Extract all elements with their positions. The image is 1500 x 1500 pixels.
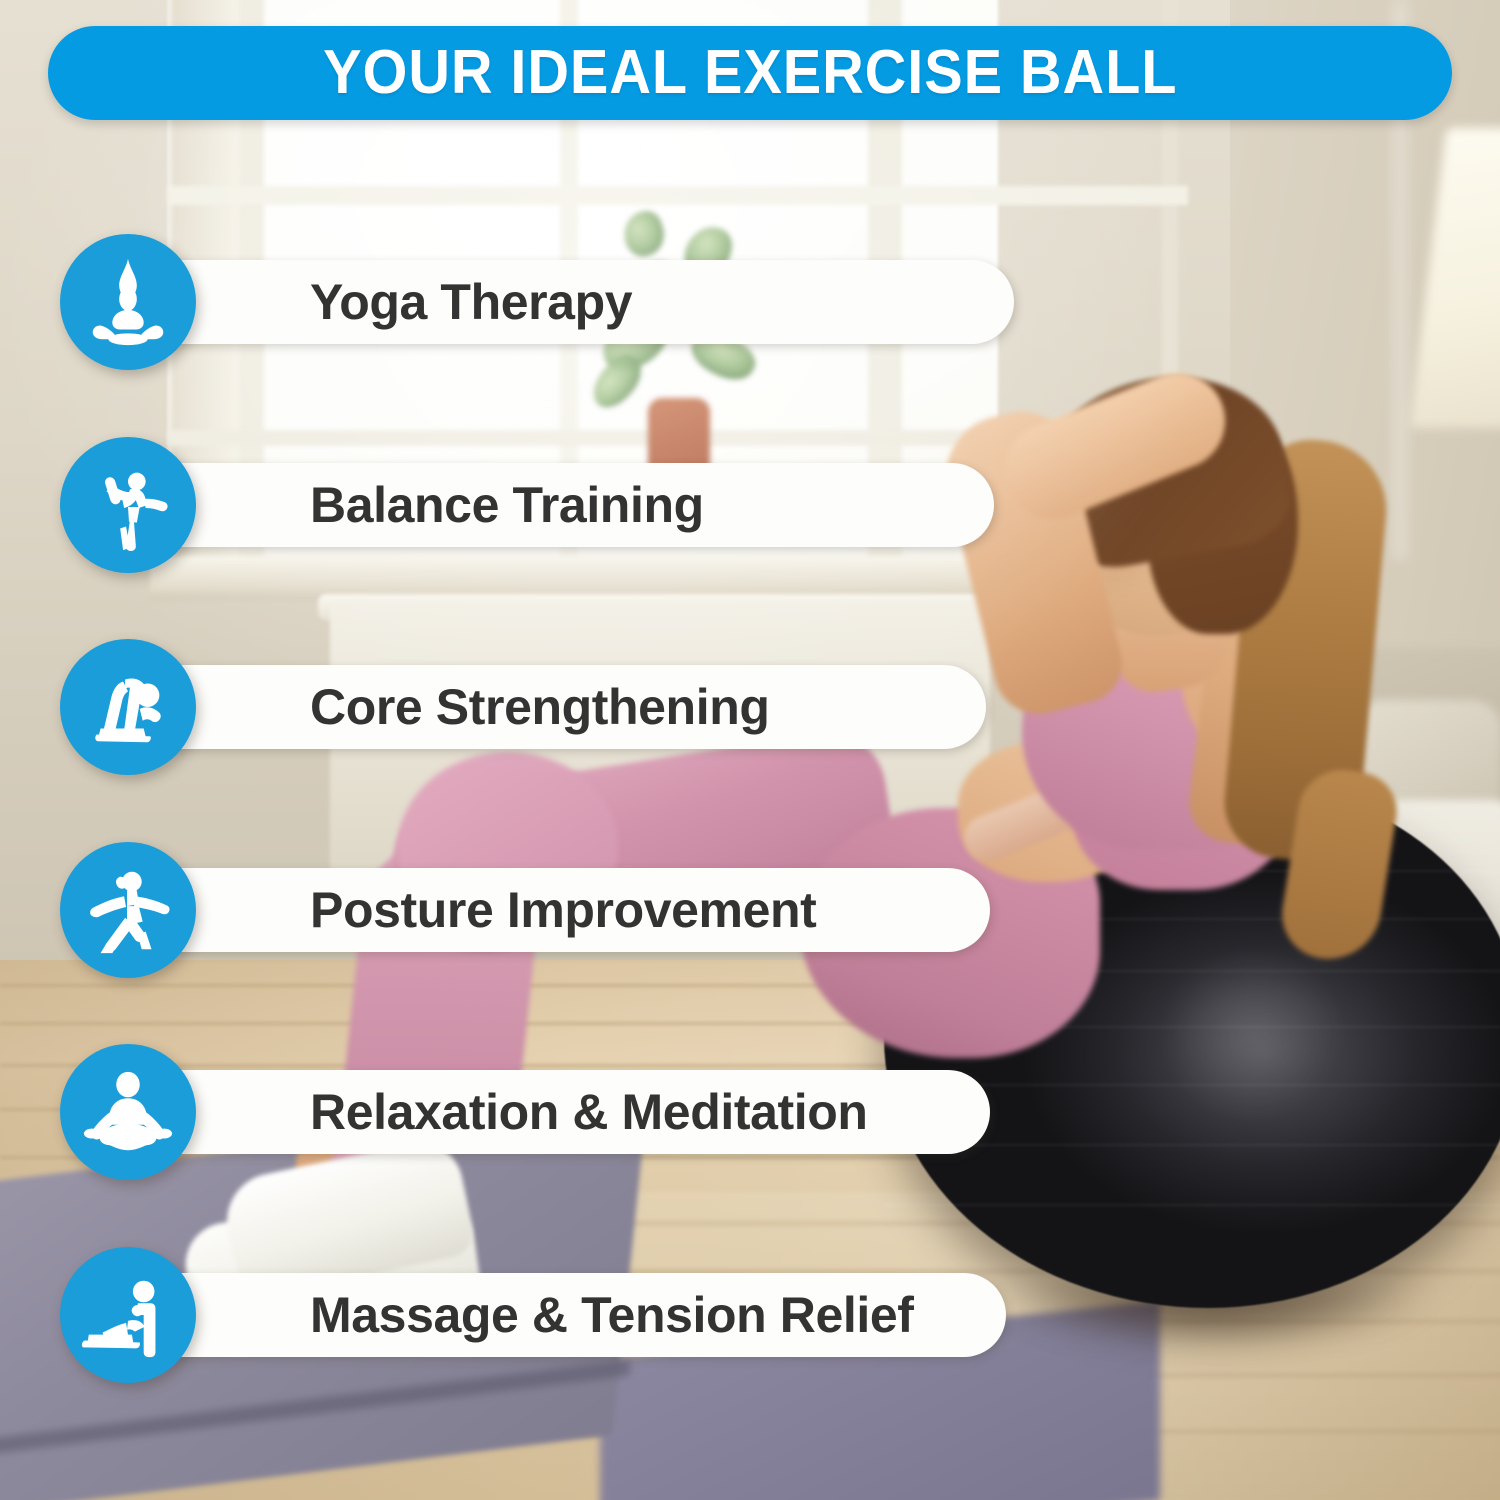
yoga-meditation-icon[interactable] [60, 234, 196, 370]
list-item-label: Relaxation & Meditation [134, 1083, 868, 1141]
infographic-canvas: YOUR IDEAL EXERCISE BALL Yoga Therapy [0, 0, 1500, 1500]
feature-pill: Posture Improvement [134, 868, 990, 952]
list-item-label: Core Strengthening [134, 678, 769, 736]
feature-list: Yoga Therapy Balance Training [0, 0, 1500, 1500]
list-item-label: Yoga Therapy [134, 273, 632, 331]
list-item-label: Balance Training [134, 476, 704, 534]
list-item-label: Posture Improvement [134, 881, 816, 939]
feature-pill: Yoga Therapy [134, 260, 1014, 344]
feature-pill: Core Strengthening [134, 665, 986, 749]
feature-pill: Massage & Tension Relief [134, 1273, 1006, 1357]
list-item-label: Massage & Tension Relief [134, 1286, 914, 1344]
core-crunch-icon[interactable] [60, 639, 196, 775]
feature-pill: Balance Training [134, 463, 994, 547]
massage-table-icon[interactable] [60, 1247, 196, 1383]
balance-dancer-icon[interactable] [60, 437, 196, 573]
feature-pill: Relaxation & Meditation [134, 1070, 990, 1154]
warrior-pose-icon[interactable] [60, 842, 196, 978]
lotus-sitting-icon[interactable] [60, 1044, 196, 1180]
